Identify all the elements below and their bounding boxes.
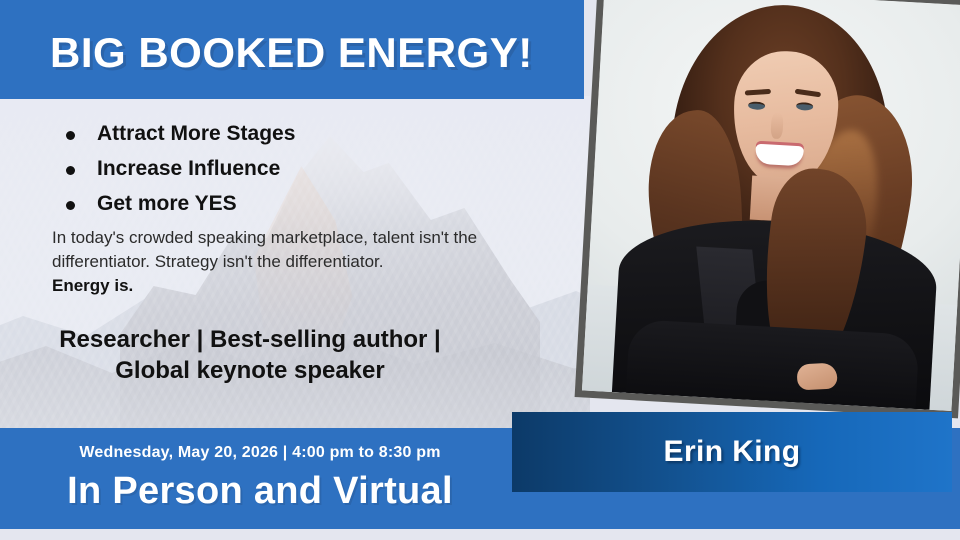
photo-crossed-arms [626,319,920,409]
list-item: Increase Influence [0,157,584,182]
header-banner: BIG BOOKED ENERGY! [0,0,584,99]
main-content: Attract More Stages Increase Influence G… [0,96,584,387]
event-promo-poster: BIG BOOKED ENERGY! Attract More Stages I… [0,0,960,540]
benefits-list: Attract More Stages Increase Influence G… [0,122,584,216]
speaker-name: Erin King [512,412,952,492]
credentials-line-2: Global keynote speaker [0,355,500,387]
description-text: In today's crowded speaking marketplace,… [52,228,477,270]
list-item: Attract More Stages [0,122,584,147]
description-paragraph: In today's crowded speaking marketplace,… [52,226,484,297]
speaker-photo [575,0,960,418]
speaker-name-banner: Erin King [512,412,952,492]
description-emphasis: Energy is. [52,274,484,297]
page-title: BIG BOOKED ENERGY! [50,29,533,77]
speaker-photo-inner [582,0,960,411]
photo-hand [796,362,837,390]
credentials-line-1: Researcher | Best-selling author | [0,324,500,356]
event-format: In Person and Virtual [0,470,520,513]
speaker-credentials: Researcher | Best-selling author | Globa… [0,324,500,387]
event-date-time: Wednesday, May 20, 2026 | 4:00 pm to 8:3… [0,444,520,462]
list-item: Get more YES [0,192,584,217]
